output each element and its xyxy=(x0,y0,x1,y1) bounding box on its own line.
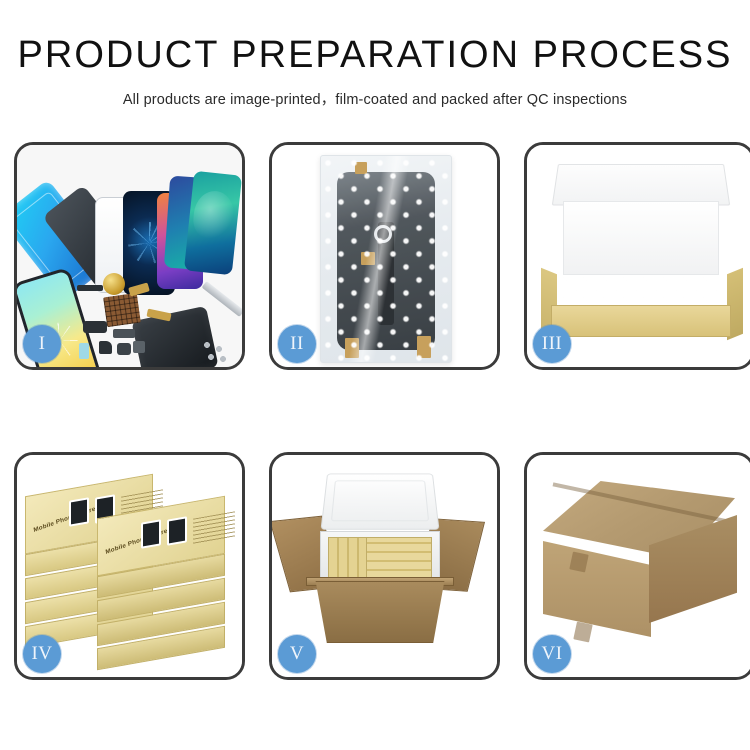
screws-icon xyxy=(203,341,229,363)
bracket-part xyxy=(113,329,135,338)
process-step-1: I xyxy=(14,142,245,370)
product-thumbnail xyxy=(69,497,89,527)
camera-module-part xyxy=(83,321,107,333)
step-badge-1: I xyxy=(23,325,61,363)
step-badge-2: II xyxy=(278,325,316,363)
process-step-2: II xyxy=(269,142,500,370)
product-thumbnail xyxy=(141,519,161,549)
packed-kraft-boxes-2 xyxy=(366,537,432,579)
green-phone-screen xyxy=(184,171,242,275)
step-badge-6: VI xyxy=(533,635,571,673)
battery-part xyxy=(79,343,89,359)
step-badge-5: V xyxy=(278,635,316,673)
kraft-box-front xyxy=(551,305,731,337)
page-title: PRODUCT PREPARATION PROCESS xyxy=(0,36,750,76)
tweezers-tool-icon xyxy=(202,281,242,317)
button-part xyxy=(133,341,145,353)
process-step-3: III xyxy=(524,142,750,370)
chip-component-icon xyxy=(103,293,141,327)
carton-body xyxy=(310,581,450,643)
step-badge-4: IV xyxy=(23,635,61,673)
product-preparation-infographic: PRODUCT PREPARATION PROCESS All products… xyxy=(0,0,750,750)
process-step-5: V xyxy=(269,452,500,680)
carton-tape-mark xyxy=(573,622,592,643)
bubble-texture xyxy=(321,156,451,362)
styrofoam-lid xyxy=(321,474,440,530)
speaker-component-icon xyxy=(103,273,125,295)
bubble-wrap-bag xyxy=(320,155,452,363)
process-step-6: VI xyxy=(524,452,750,680)
header: PRODUCT PREPARATION PROCESS All products… xyxy=(0,36,750,109)
flex-cable-part xyxy=(77,285,103,291)
step-badge-3: III xyxy=(533,325,571,363)
bubble-wrapped-contents xyxy=(559,273,723,309)
box-lid xyxy=(552,164,730,205)
foam-sheet xyxy=(563,201,719,275)
process-step-grid: I II xyxy=(14,142,736,680)
carton-front-face xyxy=(543,541,651,637)
product-thumbnail xyxy=(167,516,187,546)
process-step-4: Mobile Phone Spare Parts Mobile Phone Sp… xyxy=(14,452,245,680)
page-subtitle: All products are image-printed，film-coat… xyxy=(0,88,750,109)
vibrator-part xyxy=(117,343,131,355)
speaker-part xyxy=(99,341,112,354)
box-stack: Mobile Phone Spare Parts Mobile Phone Sp… xyxy=(25,469,237,667)
